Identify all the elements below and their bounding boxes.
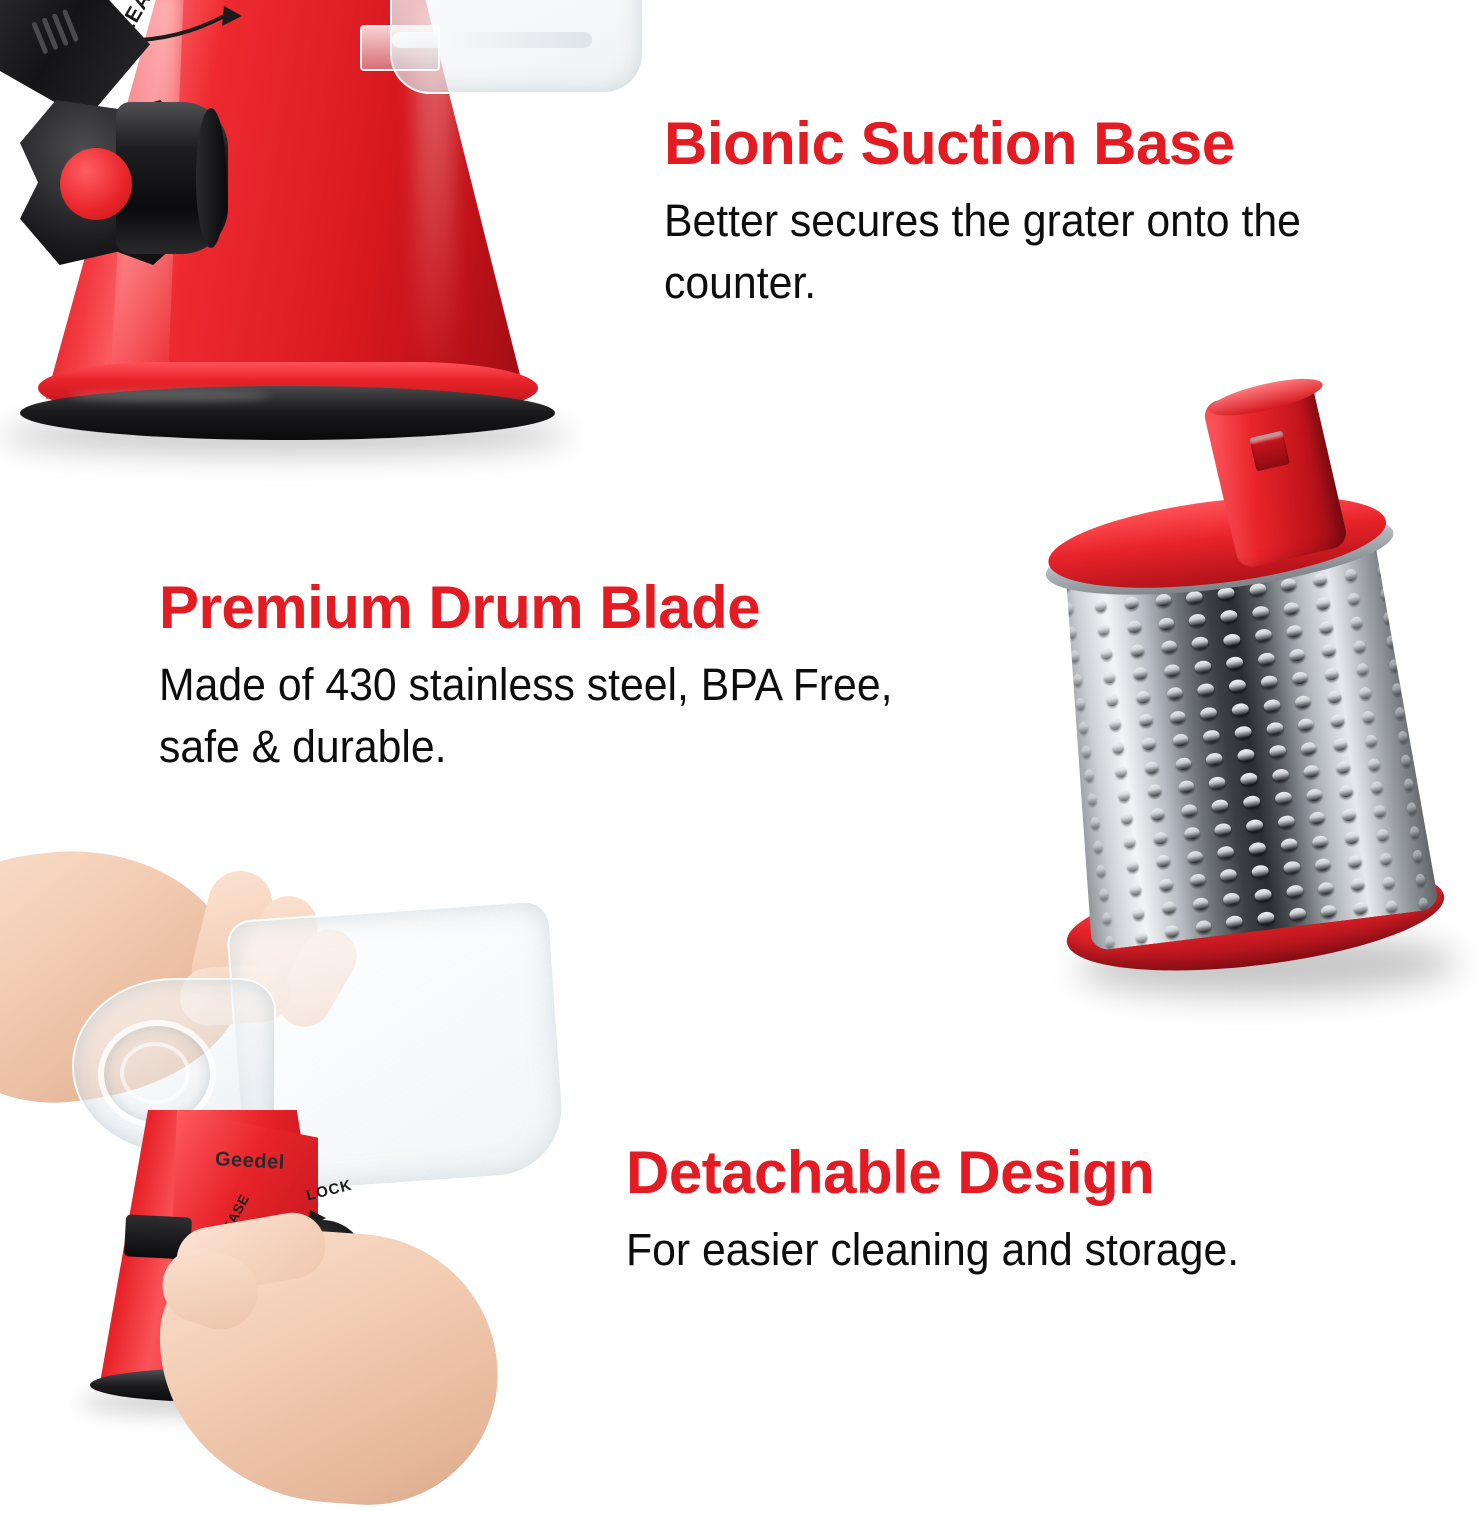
hopper-latch-tab (360, 25, 440, 71)
brand-logo-text: Geedel (214, 1148, 285, 1175)
feature-title: Detachable Design (626, 1143, 1386, 1203)
infographic-canvas: LOCK RELEASE Bionic Suction Base Bette (0, 0, 1483, 1500)
detachable-hands-photo: Geedel LOCK RELEASE (0, 860, 620, 1500)
feature-detachable-design: Detachable Design For easier cleaning an… (626, 1143, 1386, 1281)
rubber-highlight (70, 390, 270, 402)
knob-barrel-rim (196, 108, 226, 248)
hopper-mount-ring-inner (120, 1042, 190, 1104)
feature-premium-drum-blade: Premium Drum Blade Made of 430 stainless… (159, 578, 999, 778)
drum-blade-group (978, 354, 1483, 1066)
knob-red-cap (60, 148, 132, 220)
feature-title: Premium Drum Blade (159, 578, 999, 638)
suction-base-photo: LOCK RELEASE (0, 0, 600, 490)
feature-bionic-suction-base: Bionic Suction Base Better secures the g… (664, 114, 1454, 314)
feature-body: For easier cleaning and storage. (626, 1219, 1348, 1281)
drum-blade-photo (1020, 380, 1483, 1040)
feature-body: Better secures the grater onto the count… (664, 190, 1415, 314)
feature-body: Made of 430 stainless steel, BPA Free, s… (159, 654, 957, 778)
feature-title: Bionic Suction Base (664, 114, 1454, 174)
crank-knob (20, 90, 230, 275)
vent-grille-icon (31, 7, 83, 54)
